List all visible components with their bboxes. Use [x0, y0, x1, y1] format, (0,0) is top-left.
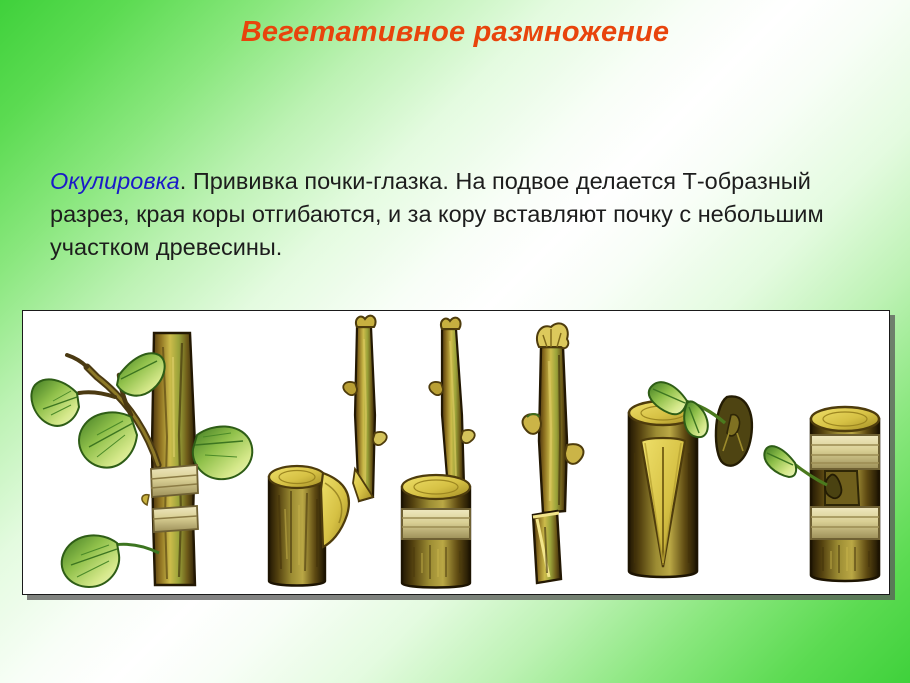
figure-scion-inserted-bound-stock [386, 319, 514, 591]
binding-wrap-upper [811, 435, 879, 469]
scion-twig [79, 392, 115, 397]
figure-stage [23, 311, 889, 594]
scion-inserted-illustration [386, 319, 514, 591]
scion-twig-tip [67, 355, 87, 367]
leaf [764, 446, 796, 477]
leaf [62, 535, 120, 587]
figure-finished-bud-graft-bound [775, 397, 890, 587]
stock-bark-flap-illustration [261, 319, 401, 591]
binding-wrap-lower [811, 507, 879, 539]
lateral-bud [523, 414, 541, 434]
slide-root: Вегетативное размножение Окулировка. При… [0, 0, 910, 683]
leaf [684, 401, 708, 437]
stock-cut-face [269, 466, 325, 488]
figure-stock-with-bark-flap-and-scion [261, 319, 401, 591]
peeled-bark-flap [321, 473, 349, 547]
twig-t-cut-illustration [509, 321, 619, 589]
figure-twig-with-t-cut [509, 321, 619, 589]
leaf [193, 426, 253, 479]
twig-upper-body [539, 347, 567, 513]
binding-wrap [402, 509, 470, 539]
open-t-cut-illustration [619, 367, 769, 589]
stock-cut-face [402, 475, 470, 499]
apical-bud-cluster [537, 323, 568, 348]
grafted-branch-illustration [27, 317, 262, 592]
leaf-stem [113, 544, 159, 553]
leaf [31, 379, 79, 425]
figure-grafted-branch-with-leaves [27, 317, 262, 592]
term-separator: . [180, 168, 193, 194]
binding-tie-upper [151, 465, 198, 497]
lateral-bud [343, 382, 357, 395]
illustration-panel [22, 310, 890, 595]
finished-bud-graft-illustration [775, 397, 890, 587]
stock-cut-face [811, 407, 879, 431]
slide-title-bar: Вегетативное размножение [0, 16, 910, 49]
apical-bud [356, 316, 376, 327]
page-title: Вегетативное размножение [241, 16, 670, 49]
bark-highlight-line [173, 357, 174, 457]
figure-stock-open-t-cut-with-bud-shield [619, 367, 769, 589]
body-paragraph: Окулировка. Прививка почки-глазка. На по… [50, 165, 860, 264]
apical-bud [441, 318, 461, 329]
bud-nub [142, 495, 149, 505]
lateral-bud [461, 430, 475, 443]
lateral-bud [373, 432, 387, 445]
leaf [79, 412, 137, 467]
bark-texture-line [559, 355, 560, 505]
lateral-bud [429, 382, 443, 395]
binding-tie-lower [153, 506, 198, 532]
bud-shield [716, 396, 752, 465]
term-okulirovka: Окулировка [50, 168, 180, 194]
lateral-bud [565, 444, 583, 464]
